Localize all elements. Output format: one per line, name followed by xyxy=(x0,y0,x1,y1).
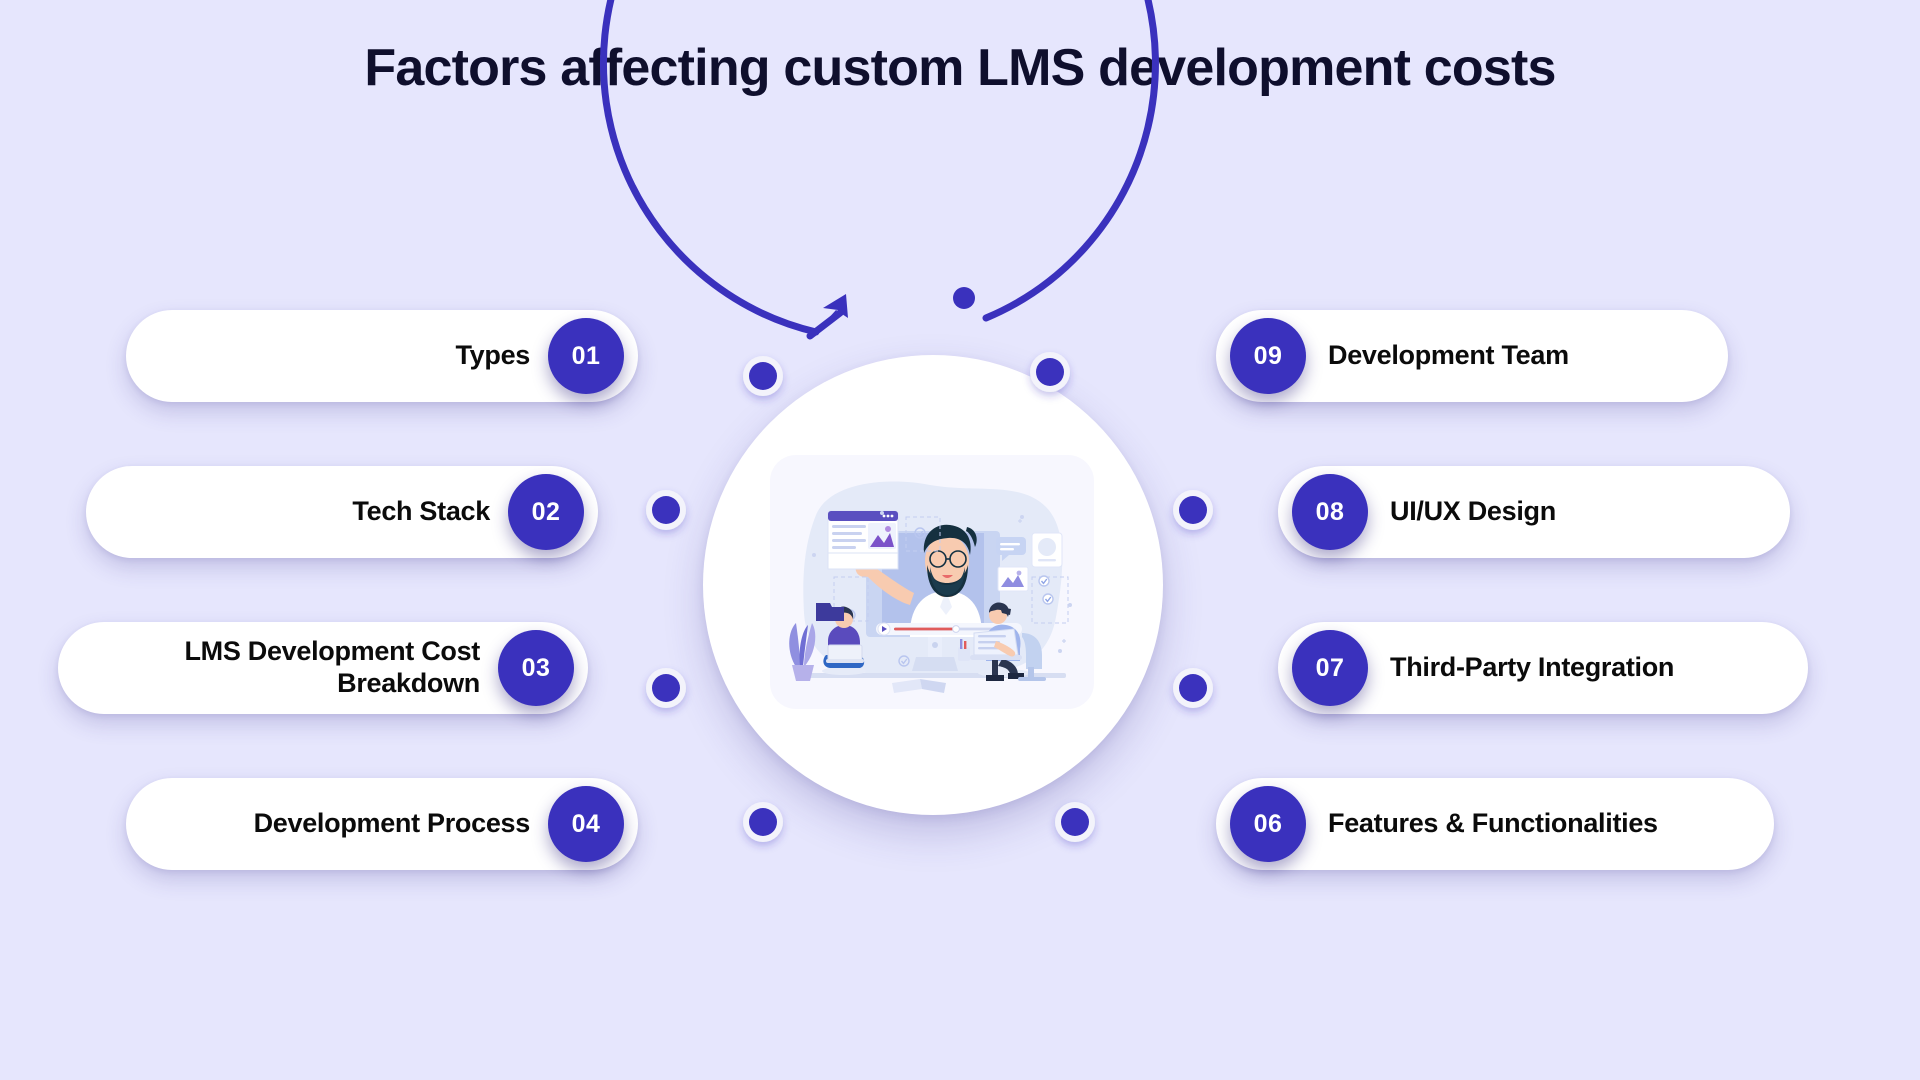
orbit-path xyxy=(620,280,1240,900)
factor-label: Development Process xyxy=(254,808,530,840)
factor-number-badge: 06 xyxy=(1230,786,1306,862)
orbit-dot-right-lower xyxy=(1173,668,1213,708)
factor-number-badge: 08 xyxy=(1292,474,1368,550)
orbit-dot-right-upper xyxy=(1173,490,1213,530)
factor-number-badge: 03 xyxy=(498,630,574,706)
factor-card-types[interactable]: Types 01 xyxy=(126,310,638,402)
factor-number-badge: 09 xyxy=(1230,318,1306,394)
factor-card-development-team[interactable]: 09 Development Team xyxy=(1216,310,1728,402)
factor-number-badge: 04 xyxy=(548,786,624,862)
factor-number-badge: 01 xyxy=(548,318,624,394)
factor-label: Features & Functionalities xyxy=(1328,808,1658,840)
factor-card-features-functionalities[interactable]: 06 Features & Functionalities xyxy=(1216,778,1774,870)
arc-arrow-shaft xyxy=(810,313,840,336)
infographic-canvas: Factors affecting custom LMS development… xyxy=(0,0,1920,1080)
factor-label: LMS Development Cost Breakdown xyxy=(184,636,480,700)
factor-card-tech-stack[interactable]: Tech Stack 02 xyxy=(86,466,598,558)
arc-start-dot xyxy=(953,287,975,309)
factor-label: Tech Stack xyxy=(352,496,490,528)
orbit-dot-top-right xyxy=(1030,352,1070,392)
factor-label: UI/UX Design xyxy=(1390,496,1556,528)
factor-label: Development Team xyxy=(1328,340,1569,372)
factor-label: Third-Party Integration xyxy=(1390,652,1674,684)
factor-card-development-process[interactable]: Development Process 04 xyxy=(126,778,638,870)
factor-card-cost-breakdown[interactable]: LMS Development Cost Breakdown 03 xyxy=(58,622,588,714)
orbit-dot-group xyxy=(646,352,1213,842)
orbit-dot-left-upper xyxy=(646,490,686,530)
orbit-dot-bottom-right xyxy=(1055,802,1095,842)
factor-card-ui-ux-design[interactable]: 08 UI/UX Design xyxy=(1278,466,1790,558)
orbit-dot-bottom-left xyxy=(743,802,783,842)
orbit-dot-left-lower xyxy=(646,668,686,708)
orbit-dot-top-left xyxy=(743,356,783,396)
factor-number-badge: 07 xyxy=(1292,630,1368,706)
page-title: Factors affecting custom LMS development… xyxy=(0,38,1920,98)
factor-card-third-party-integration[interactable]: 07 Third-Party Integration xyxy=(1278,622,1808,714)
factor-number-badge: 02 xyxy=(508,474,584,550)
factor-label: Types xyxy=(455,340,530,372)
